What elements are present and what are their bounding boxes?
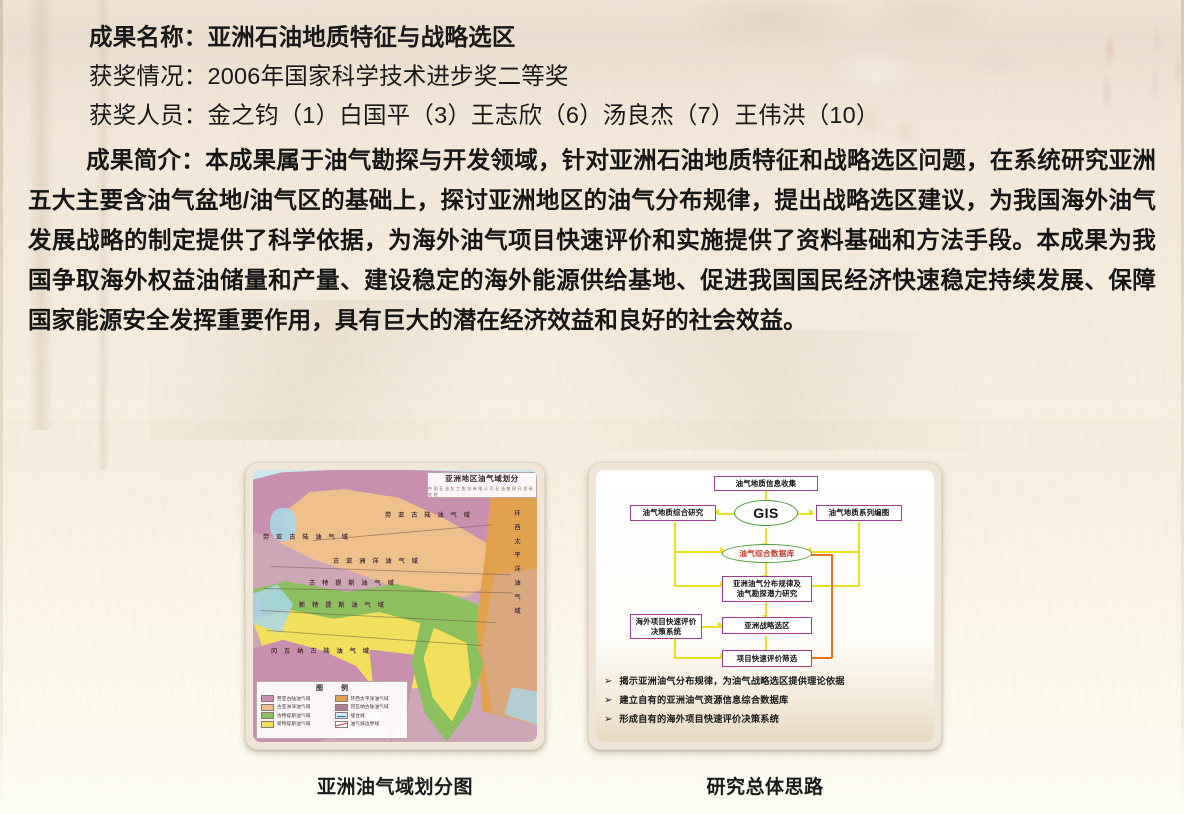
legend-item: 劳亚古陆油气域 <box>261 695 330 702</box>
flow-panel-inner: 油气地质信息收集 GIS 油气地质综合研究 油气地质系列编图 油气综合数据库 亚… <box>596 470 934 742</box>
legend-label: 新特提斯油气域 <box>277 721 311 727</box>
legend-item: 古亚洲洋油气域 <box>261 704 330 711</box>
award-info-line: 获奖情况：2006年国家科学技术进步奖二等奖 <box>26 57 1158 96</box>
map-panel-inner: 劳 亚 古 陆 油 气 域 劳 亚 古 陆 油 气 域 古 亚 洲 洋 油 气 … <box>253 470 537 742</box>
map-caption: 亚洲油气域划分图 <box>245 772 545 799</box>
summary-label: 成果简介： <box>86 147 205 173</box>
awardees-value: 金之钧（1）白国平（3）王志欣（6）汤良杰（7）王伟洪（10） <box>208 102 880 128</box>
legend-item: 环西太平洋油气域 <box>335 695 404 702</box>
legend-label: 劳亚古陆油气域 <box>277 696 311 702</box>
research-approach-flowchart: 油气地质信息收集 GIS 油气地质综合研究 油气地质系列编图 油气综合数据库 亚… <box>596 470 934 742</box>
node-overseas-line-2: 决策系统 <box>651 627 681 637</box>
legend-item: 缝合线 <box>335 712 404 719</box>
awardees-label: 获奖人员： <box>89 102 208 128</box>
summary-text: 本成果属于油气勘探与开发领域，针对亚洲石油地质特征和战略选区问题，在系统研究亚洲… <box>28 147 1156 333</box>
asia-oil-gas-domain-map: 劳 亚 古 陆 油 气 域 劳 亚 古 陆 油 气 域 古 亚 洲 洋 油 气 … <box>253 470 537 742</box>
map-label-laurasia-west: 劳 亚 古 陆 油 气 域 <box>263 532 350 541</box>
legend-label: 古特提斯油气域 <box>277 713 311 719</box>
flowchart-caption: 研究总体思路 <box>588 772 942 799</box>
node-overseas-evaluation-system: 海外项目快速评价 决策系统 <box>630 614 702 639</box>
legend-label: 环西太平洋油气域 <box>351 696 389 702</box>
legend-swatch-paleo-asian <box>261 704 274 711</box>
figure-flowchart: 油气地质信息收集 GIS 油气地质综合研究 油气地质系列编图 油气综合数据库 亚… <box>588 462 942 799</box>
text-block: 成果名称：亚洲石油地质特征与战略选区 获奖情况：2006年国家科学技术进步奖二等… <box>0 0 1184 340</box>
node-asia-strategy-selection: 亚洲战略选区 <box>722 617 812 634</box>
arrow-left-rail-to-distribution <box>674 585 724 587</box>
map-panel: 劳 亚 古 陆 油 气 域 劳 亚 古 陆 油 气 域 古 亚 洲 洋 油 气 … <box>245 462 545 750</box>
node-distribution-line-2: 油气勘探潜力研究 <box>737 589 798 599</box>
achievement-name-value: 亚洲石油地质特征与战略选区 <box>208 24 516 50</box>
node-overseas-line-1: 海外项目快速评价 <box>636 617 697 627</box>
flow-bullet-item: ➢ 形成自有的海外项目快速评价决策系统 <box>604 713 928 726</box>
legend-label: 缝合线 <box>351 713 365 719</box>
flow-bullet-text: 揭示亚洲油气分布规律，为油气战略选区提供理论依据 <box>619 675 844 688</box>
node-distribution-research: 亚洲油气分布规律及 油气勘探潜力研究 <box>722 576 812 602</box>
arrow-feedback-top <box>810 554 832 556</box>
legend-swatch-neo-tethys <box>261 721 274 728</box>
bullet-arrow-icon: ➢ <box>604 694 612 707</box>
award-info-label: 获奖情况： <box>89 63 208 89</box>
legend-item: 古特提斯油气域 <box>261 712 330 719</box>
legend-swatch-suture-line <box>335 712 348 719</box>
node-distribution-line-1: 亚洲油气分布规律及 <box>733 579 801 589</box>
legend-swatch-paleo-tethys <box>261 712 274 719</box>
figure-map: 劳 亚 古 陆 油 气 域 劳 亚 古 陆 油 气 域 古 亚 洲 洋 油 气 … <box>245 462 545 799</box>
map-legend-column-left: 劳亚古陆油气域 古亚洲洋油气域 古特提斯油气域 <box>261 695 330 729</box>
bullet-arrow-icon: ➢ <box>604 713 612 726</box>
node-comprehensive-database: 油气综合数据库 <box>722 544 812 563</box>
achievement-name-label: 成果名称： <box>89 24 208 50</box>
flow-panel: 油气地质信息收集 GIS 油气地质综合研究 油气地质系列编图 油气综合数据库 亚… <box>588 462 942 750</box>
award-info-value: 2006年国家科学技术进步奖二等奖 <box>208 63 569 89</box>
node-collect-info: 油气地质信息收集 <box>714 476 818 491</box>
legend-item: 新特提斯油气域 <box>261 721 330 728</box>
map-label-laurasia-north: 劳 亚 古 陆 油 气 域 <box>385 510 472 519</box>
legend-swatch-domain-boundary <box>335 721 348 728</box>
legend-label: 古亚洲洋油气域 <box>277 704 311 710</box>
arrow-feedback-vertical <box>831 554 833 658</box>
arrow-right-maps-to-database <box>810 551 860 553</box>
map-label-gondwana: 冈 瓦 纳 古 陆 油 气 域 <box>271 646 372 655</box>
map-label-circum-pacific: 环 西 太 平 洋 油 气 域 <box>512 510 521 617</box>
map-legend: 图 例 劳亚古陆油气域 古亚洲洋油气域 <box>256 681 408 739</box>
legend-item: 油气域边界线 <box>335 721 404 728</box>
map-legend-column-right: 环西太平洋油气域 冈瓦纳古陆油气域 缝合线 <box>335 695 404 729</box>
map-label-paleo-asian: 古 亚 洲 洋 油 气 域 <box>333 556 420 565</box>
node-geology-maps: 油气地质系列编图 <box>816 505 902 521</box>
legend-label: 油气域边界线 <box>351 721 380 727</box>
flow-bullet-list: ➢ 揭示亚洲油气分布规律，为油气战略选区提供理论依据 ➢ 建立自有的亚洲油气资源… <box>604 675 928 732</box>
arrow-overseas-down <box>674 636 676 658</box>
arrow-right-rail-to-distribution <box>810 585 860 587</box>
map-legend-title: 图 例 <box>261 684 403 694</box>
background-streak-4 <box>560 330 980 450</box>
legend-swatch-gondwana <box>335 704 348 711</box>
flow-bullet-item: ➢ 揭示亚洲油气分布规律，为油气战略选区提供理论依据 <box>604 675 928 688</box>
arrow-left-rail-down <box>674 551 676 586</box>
flow-bullet-text: 形成自有的海外项目快速评价决策系统 <box>619 713 779 726</box>
map-label-paleo-tethys: 古 特 提 斯 油 气 域 <box>309 578 396 587</box>
awardees-line: 获奖人员：金之钧（1）白国平（3）王志欣（6）汤良杰（7）王伟洪（10） <box>26 96 1158 135</box>
flow-bullet-item: ➢ 建立自有的亚洲油气资源信息综合数据库 <box>604 694 928 707</box>
flow-bullet-text: 建立自有的亚洲油气资源信息综合数据库 <box>619 694 788 707</box>
summary-paragraph: 成果简介：本成果属于油气勘探与开发领域，针对亚洲石油地质特征和战略选区问题，在系… <box>26 140 1158 340</box>
legend-label: 冈瓦纳古陆油气域 <box>351 704 389 710</box>
arrow-right-maps-down <box>858 522 860 552</box>
arrow-right-rail-down <box>858 551 860 586</box>
map-legend-columns: 劳亚古陆油气域 古亚洲洋油气域 古特提斯油气域 <box>261 695 403 729</box>
arrow-left-study-down <box>674 522 676 552</box>
bullet-arrow-icon: ➢ <box>604 675 612 688</box>
achievement-name-line: 成果名称：亚洲石油地质特征与战略选区 <box>26 18 1158 57</box>
map-subtitle-text: 中国石油化工股份有限公司石油勘探开发研究院 <box>428 486 536 498</box>
node-project-screening: 项目快速评价筛选 <box>722 650 812 667</box>
node-geology-study: 油气地质综合研究 <box>630 505 716 521</box>
arrowhead-gis-to-right-maps <box>809 509 814 515</box>
arrow-feedback-bottom <box>810 657 832 659</box>
map-title-text: 亚洲地区油气域划分 <box>445 473 519 484</box>
arrow-overseas-to-screening <box>674 657 724 659</box>
arrow-left-study-to-database <box>674 551 724 553</box>
legend-swatch-laurasia <box>261 695 274 702</box>
node-gis: GIS <box>734 500 798 526</box>
map-title-box: 亚洲地区油气域划分 中国石油化工股份有限公司石油勘探开发研究院 <box>427 472 537 498</box>
legend-swatch-circum-pacific <box>335 695 348 702</box>
map-label-neo-tethys: 新 特 提 斯 油 气 域 <box>299 600 386 609</box>
legend-item: 冈瓦纳古陆油气域 <box>335 704 404 711</box>
